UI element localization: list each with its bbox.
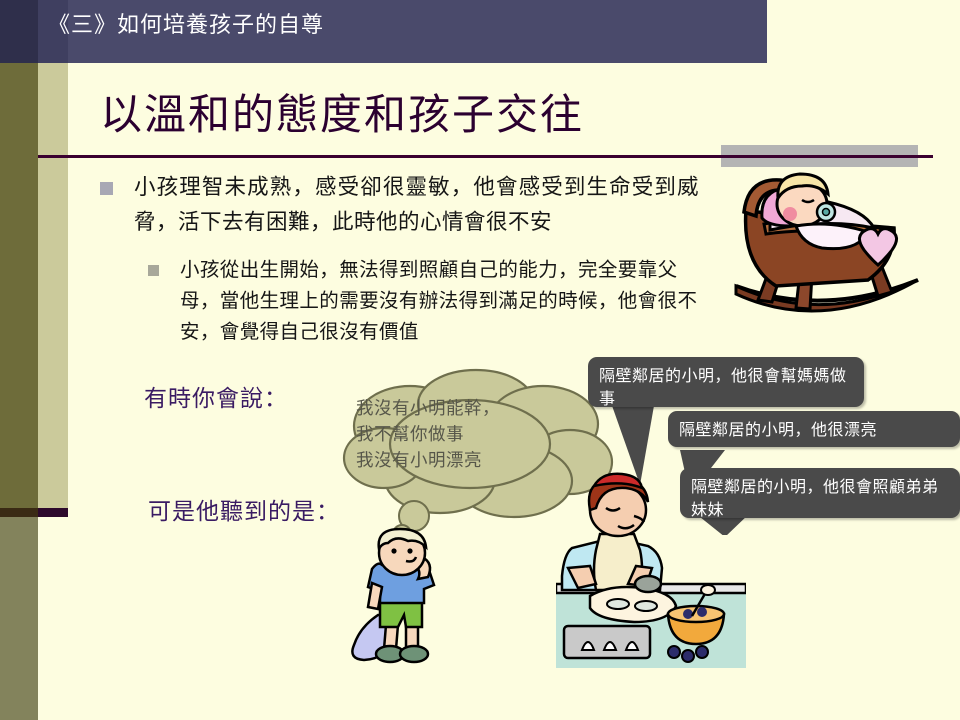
- title-underline-rule: [38, 155, 933, 158]
- page-title: 以溫和的態度和孩子交往: [100, 88, 740, 142]
- thought-cloud-text: 我沒有小明能幹， 我不幫你做事 我沒有小明漂亮: [356, 396, 586, 474]
- header-bar-left-block: [0, 0, 38, 63]
- bullet-marker-level2-icon: [148, 265, 159, 276]
- thought-line-3: 我沒有小明漂亮: [356, 448, 586, 474]
- lead-in-he-hears: 可是他聽到的是：: [148, 492, 340, 526]
- child-baking-image: [556, 472, 746, 668]
- callout-2: 隔壁鄰居的小明，他很漂亮: [668, 411, 960, 447]
- left-band-olive-dark: [0, 63, 38, 510]
- bullet-level2-text: 小孩從出生開始，無法得到照顧自己的能力，完全要靠父母，當他生理上的需要沒有辦法得…: [180, 254, 700, 347]
- lead-in-you-say: 有時你會說：: [144, 379, 288, 413]
- callout-1: 隔壁鄰居的小明，他很會幫媽媽做事: [588, 357, 864, 407]
- thought-line-2: 我不幫你做事: [356, 422, 586, 448]
- baby-in-cradle-image: [718, 168, 933, 333]
- bullet-marker-level1-icon: [100, 182, 113, 195]
- bullet-level1-text: 小孩理智未成熟，感受卻很靈敏，他會感受到生命受到威脅，活下去有困難，此時他的心情…: [134, 170, 699, 240]
- thinking-boy-image: [348, 527, 460, 670]
- thought-line-1: 我沒有小明能幹，: [356, 396, 586, 422]
- left-band-olive-light: [0, 510, 38, 720]
- presentation-slide: 《三》如何培養孩子的自尊 以溫和的態度和孩子交往 小孩理智未成熟，感受卻很靈敏，…: [0, 0, 960, 720]
- left-band-divider-rule-dark: [0, 508, 38, 517]
- header-title: 《三》如何培養孩子的自尊: [48, 10, 748, 50]
- left-band-khaki: [38, 63, 68, 510]
